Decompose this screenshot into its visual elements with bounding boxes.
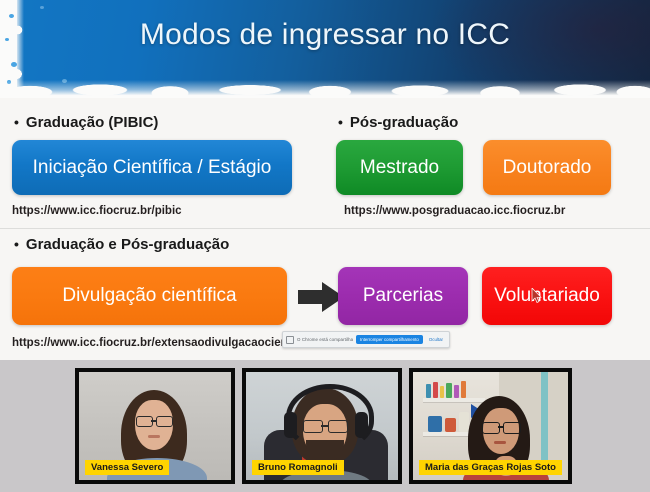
participant-name-label: Vanessa Severo (85, 460, 169, 475)
participant-glasses-right (503, 422, 521, 434)
paint-speckle (11, 62, 17, 67)
chip-voluntariado[interactable]: Voluntariado (482, 267, 612, 325)
share-message: O Chrome está compartilhando sua tela. (297, 337, 353, 342)
video-tile-participant-2[interactable]: Bruno Romagnoli (242, 368, 402, 484)
participant-mouth (148, 435, 160, 438)
participant-mouth (494, 441, 506, 444)
banner-bottom-torn-edge (0, 80, 650, 98)
screen-share-icon (286, 336, 294, 344)
hide-sharing-button[interactable]: Ocultar (426, 335, 446, 344)
book (446, 383, 452, 398)
headphone-earcup-left (284, 412, 297, 438)
chip-mestrado[interactable]: Mestrado (336, 140, 463, 195)
book (426, 384, 431, 398)
participant-glasses-left (303, 420, 323, 433)
stop-sharing-button[interactable]: Interromper compartilhamento (356, 335, 423, 344)
participant-name-label: Bruno Romagnoli (252, 460, 344, 475)
chip-label: Divulgação científica (62, 285, 236, 307)
video-tile-participant-3[interactable]: Maria das Graças Rojas Soto (409, 368, 572, 484)
bookshelf-plank-top (423, 398, 485, 402)
presentation-slide: Modos de ingressar no ICC •Graduação (PI… (0, 0, 650, 360)
bullet-graduacao-e-pos-graduacao: •Graduação e Pós-graduação (14, 236, 229, 253)
bullet-label: Graduação (PIBIC) (26, 114, 159, 131)
chip-divulgacao-cientifica[interactable]: Divulgação científica (12, 267, 287, 325)
book (433, 382, 438, 398)
headphone-earcup-right (355, 412, 368, 438)
bullet-pos-graduacao: •Pós-graduação (338, 114, 458, 131)
page-title: Modos de ingressar no ICC (0, 18, 650, 52)
chip-label: Doutorado (503, 157, 592, 179)
participant-glasses-left (482, 422, 500, 434)
bullet-graduacao-pibic: •Graduação (PIBIC) (14, 114, 158, 131)
url-extensao-divulgacao[interactable]: https://www.icc.fiocruz.br/extensaodivul… (12, 337, 314, 349)
chip-label: Voluntariado (494, 285, 600, 307)
book (461, 381, 466, 398)
bullet-label: Pós-graduação (350, 114, 458, 131)
chip-doutorado[interactable]: Doutorado (483, 140, 611, 195)
participant-glasses-bridge (498, 426, 503, 428)
chip-parcerias[interactable]: Parcerias (338, 267, 468, 325)
chip-label: Iniciação Científica / Estágio (33, 157, 272, 179)
mouse-cursor-icon (531, 288, 542, 303)
screen-share-notification[interactable]: O Chrome está compartilhando sua tela. I… (282, 331, 450, 348)
chip-iniciacao-cientifica-estagio[interactable]: Iniciação Científica / Estágio (12, 140, 292, 195)
participant-glasses-bridge (151, 420, 156, 422)
slide-title-banner: Modos de ingressar no ICC (0, 0, 650, 98)
book (454, 385, 459, 398)
chip-label: Parcerias (363, 285, 443, 307)
bullet-marker: • (14, 236, 19, 252)
bullet-marker: • (338, 114, 343, 130)
url-posgraduacao[interactable]: https://www.posgraduacao.icc.fiocruz.br (344, 205, 565, 217)
participant-name-label: Maria das Graças Rojas Soto (419, 460, 562, 475)
participant-glasses-bridge (321, 425, 328, 427)
chip-label: Mestrado (360, 157, 439, 179)
shelf-box (445, 418, 456, 432)
paint-speckle (40, 6, 44, 9)
book (440, 386, 444, 398)
bullet-label: Graduação e Pós-graduação (26, 236, 229, 253)
url-pibic[interactable]: https://www.icc.fiocruz.br/pibic (12, 205, 182, 217)
bullet-marker: • (14, 114, 19, 130)
shelf-box (428, 416, 442, 432)
section-divider (0, 228, 650, 229)
shelf-box (459, 412, 469, 432)
participant-glasses-right (156, 416, 173, 427)
participant-glasses-right (328, 420, 348, 433)
video-participants-strip: Vanessa Severo Bruno Romagnoli (0, 360, 650, 492)
video-tile-participant-1[interactable]: Vanessa Severo (75, 368, 235, 484)
